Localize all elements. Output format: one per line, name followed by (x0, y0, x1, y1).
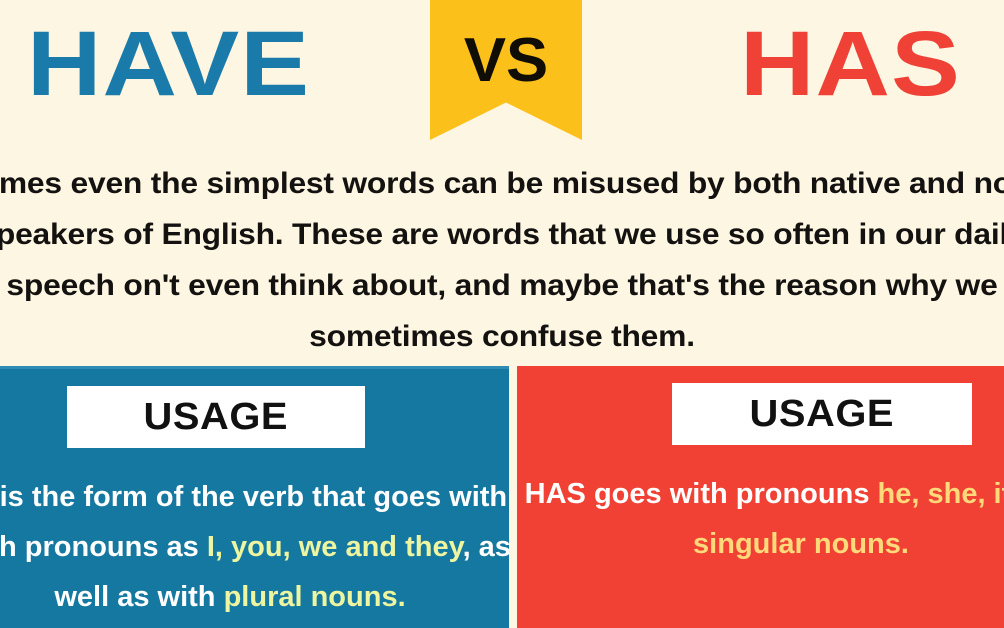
panel-has: USAGE HAS goes with pronouns he, she, it… (516, 366, 1004, 628)
panel-have: USAGE VE is the form of the verb that go… (0, 366, 510, 628)
usage-box-have: USAGE (67, 386, 365, 448)
body-segment: he, she, it (878, 478, 1004, 510)
usage-box-has: USAGE (672, 383, 972, 445)
panel-body-have: VE is the form of the verb that goes wit… (0, 472, 510, 622)
intro-paragraph: etimes even the simplest words can be mi… (0, 158, 1004, 362)
infographic-canvas: HAVE VS HAS etimes even the simplest wor… (0, 0, 1004, 628)
usage-panels: USAGE VE is the form of the verb that go… (0, 366, 1004, 628)
header-band: HAVE VS HAS (0, 0, 1004, 152)
body-segment: singular nouns. (693, 528, 909, 560)
body-segment: plural nouns. (224, 581, 406, 613)
usage-label-have: USAGE (144, 398, 289, 436)
panel-divider (509, 366, 517, 628)
title-has: HAS (740, 18, 961, 110)
versus-label: VS (428, 30, 583, 92)
body-segment: I, you, we and they (207, 531, 463, 563)
title-have: HAVE (27, 18, 310, 110)
usage-label-has: USAGE (750, 395, 895, 433)
body-segment: HAS goes with pronouns (525, 478, 878, 510)
panel-body-has: HAS goes with pronouns he, she, it with … (516, 469, 1004, 569)
